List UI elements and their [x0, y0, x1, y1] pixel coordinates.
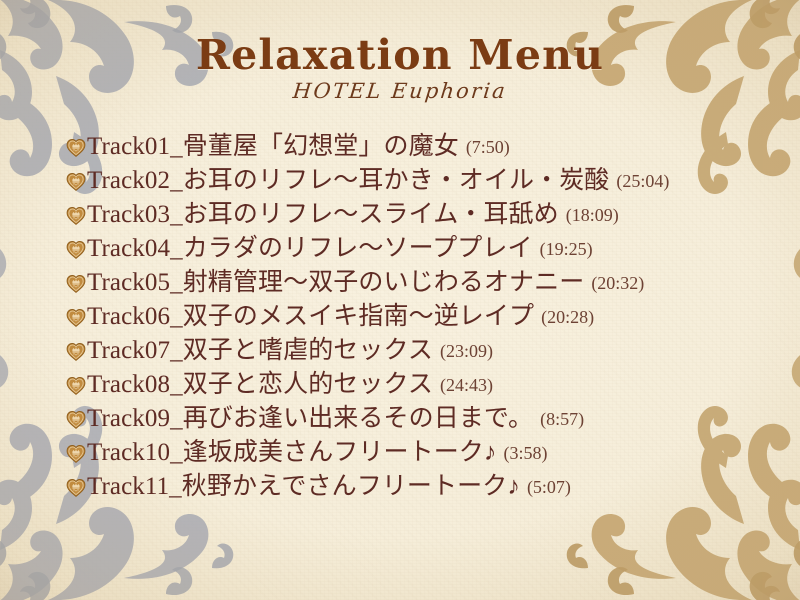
track-row[interactable]: Track10_逢坂成美さんフリートーク♪(3:58): [66, 432, 766, 466]
ornate-heart-icon: [66, 240, 86, 259]
track-title: Track08_双子と恋人的セックス: [87, 364, 433, 400]
track-row[interactable]: Track01_骨董屋「幻想堂」の魔女(7:50): [66, 126, 766, 160]
ornate-heart-icon: [66, 138, 86, 157]
track-duration: (19:25): [540, 239, 593, 260]
track-duration: (24:43): [440, 375, 493, 396]
track-title: Track07_双子と嗜虐的セックス: [87, 330, 433, 366]
track-duration: (18:09): [566, 205, 619, 226]
ornate-heart-icon: [66, 342, 86, 361]
track-duration: (25:04): [616, 171, 669, 192]
track-list: Track01_骨董屋「幻想堂」の魔女(7:50) Track02_お耳のリフレ…: [66, 126, 766, 500]
track-row[interactable]: Track11_秋野かえでさんフリートーク♪(5:07): [66, 466, 766, 500]
track-row[interactable]: Track05_射精管理〜双子のいじわるオナニー(20:32): [66, 262, 766, 296]
track-title: Track05_射精管理〜双子のいじわるオナニー: [87, 262, 584, 298]
ornate-heart-icon: [66, 444, 86, 463]
edge-ornament-left: [0, 235, 52, 445]
page-subtitle: HOTEL Euphoria: [0, 79, 800, 103]
track-row[interactable]: Track08_双子と恋人的セックス(24:43): [66, 364, 766, 398]
ornate-heart-icon: [66, 308, 86, 327]
track-title: Track04_カラダのリフレ〜ソーププレイ: [87, 228, 533, 264]
page-title: Relaxation Menu: [0, 34, 800, 77]
track-title: Track11_秋野かえでさんフリートーク♪: [87, 466, 520, 502]
track-duration: (3:58): [504, 443, 548, 464]
ornate-heart-icon: [66, 376, 86, 395]
track-row[interactable]: Track07_双子と嗜虐的セックス(23:09): [66, 330, 766, 364]
track-row[interactable]: Track02_お耳のリフレ〜耳かき・オイル・炭酸(25:04): [66, 160, 766, 194]
track-duration: (5:07): [527, 477, 571, 498]
relaxation-menu-page: Relaxation Menu HOTEL Euphoria Track01_骨…: [0, 0, 800, 600]
track-row[interactable]: Track03_お耳のリフレ〜スライム・耳舐め(18:09): [66, 194, 766, 228]
track-duration: (20:28): [541, 307, 594, 328]
track-row[interactable]: Track06_双子のメスイキ指南〜逆レイプ(20:28): [66, 296, 766, 330]
menu-header: Relaxation Menu HOTEL Euphoria: [0, 34, 800, 103]
track-row[interactable]: Track04_カラダのリフレ〜ソーププレイ(19:25): [66, 228, 766, 262]
ornate-heart-icon: [66, 410, 86, 429]
track-duration: (23:09): [440, 341, 493, 362]
track-duration: (8:57): [540, 409, 584, 430]
track-title: Track01_骨董屋「幻想堂」の魔女: [87, 126, 459, 162]
track-duration: (7:50): [466, 137, 510, 158]
ornate-heart-icon: [66, 206, 86, 225]
ornate-heart-icon: [66, 478, 86, 497]
track-title: Track03_お耳のリフレ〜スライム・耳舐め: [87, 194, 559, 230]
ornate-heart-icon: [66, 274, 86, 293]
track-title: Track02_お耳のリフレ〜耳かき・オイル・炭酸: [87, 160, 609, 196]
track-duration: (20:32): [591, 273, 644, 294]
track-title: Track09_再びお逢い出来るその日まで。: [87, 398, 533, 434]
track-title: Track06_双子のメスイキ指南〜逆レイプ: [87, 296, 534, 332]
ornate-heart-icon: [66, 172, 86, 191]
track-title: Track10_逢坂成美さんフリートーク♪: [87, 432, 497, 468]
track-row[interactable]: Track09_再びお逢い出来るその日まで。(8:57): [66, 398, 766, 432]
